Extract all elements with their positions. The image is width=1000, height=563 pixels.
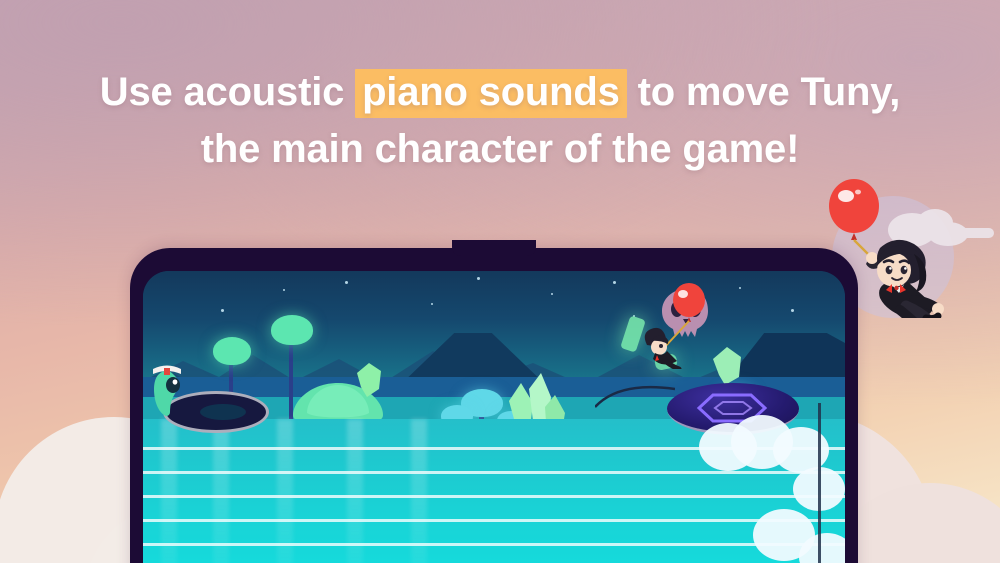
tuny-hero-character bbox=[822, 178, 972, 318]
staff-line bbox=[143, 471, 845, 474]
headline-text-after: to move Tuny, bbox=[627, 70, 901, 114]
glowing-mushroom-cap bbox=[271, 315, 313, 345]
headline-line-2: the main character of the game! bbox=[0, 121, 1000, 178]
inner-tube-hole bbox=[200, 404, 246, 420]
water-ripple bbox=[277, 419, 293, 563]
staff-line bbox=[143, 495, 845, 498]
balloon-icon bbox=[829, 179, 879, 233]
star-icon bbox=[739, 287, 741, 289]
tuny-in-game-character bbox=[635, 283, 713, 369]
star-icon bbox=[345, 281, 348, 284]
platform-tether bbox=[595, 379, 675, 409]
star-icon bbox=[283, 289, 285, 291]
phone-notch bbox=[452, 240, 536, 256]
headline-line-1: Use acoustic piano sounds to move Tuny, bbox=[0, 64, 1000, 121]
headline: Use acoustic piano sounds to move Tuny, … bbox=[0, 64, 1000, 178]
headline-highlight: piano sounds bbox=[355, 69, 627, 118]
water-ripple bbox=[161, 419, 177, 563]
water-ripple bbox=[347, 419, 363, 563]
staff-line bbox=[143, 519, 845, 522]
glowing-mushroom-cap bbox=[213, 337, 251, 365]
star-icon bbox=[791, 309, 794, 312]
star-icon bbox=[431, 303, 433, 305]
game-screen[interactable] bbox=[143, 271, 845, 563]
water-ripple bbox=[411, 419, 427, 563]
floating-crystal bbox=[711, 347, 745, 385]
star-icon bbox=[477, 277, 480, 280]
star-icon bbox=[221, 309, 224, 312]
staff-line bbox=[143, 543, 845, 546]
vertical-grid-line bbox=[818, 403, 821, 563]
floating-crystal bbox=[355, 363, 385, 397]
headline-text-before: Use acoustic bbox=[100, 70, 355, 114]
star-icon bbox=[551, 293, 553, 295]
water-ripple bbox=[213, 419, 229, 563]
phone-mockup bbox=[130, 248, 858, 563]
green-creature bbox=[149, 363, 185, 419]
star-icon bbox=[613, 281, 616, 284]
